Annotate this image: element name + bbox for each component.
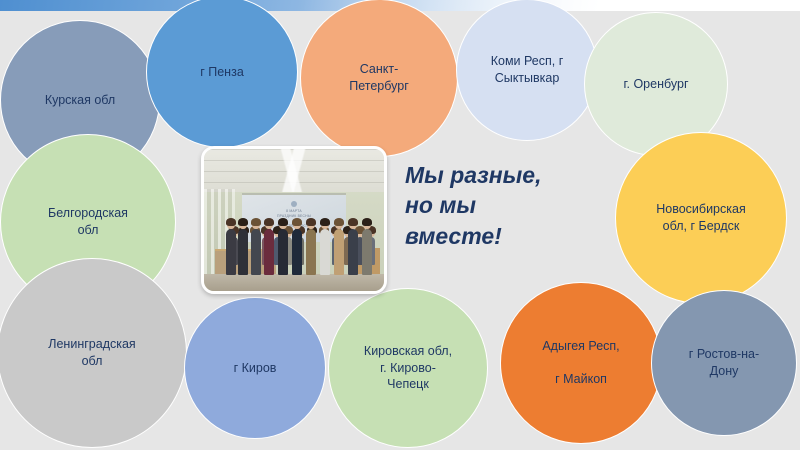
bubble-label: Курская обл: [11, 92, 149, 109]
bubble-label: Санкт- Петербург: [311, 61, 447, 95]
bubble-label: Кировская обл, г. Кирово- Чепецк: [339, 343, 477, 394]
photo-person-hair: [348, 218, 358, 226]
group-photo-image: 8 МАРТА ПРАЗДНИК ВЕСНЫ И ЖЕНСТВЕННОСТИ: [204, 149, 384, 291]
bubble-kirovskaya[interactable]: Кировская обл, г. Кирово- Чепецк: [328, 288, 488, 448]
photo-person: [334, 229, 344, 275]
bubble-komi[interactable]: Коми Респ, г Сыктывкар: [456, 0, 598, 141]
photo-person: [238, 229, 248, 275]
photo-person-hair: [278, 218, 288, 226]
bubble-label: г Киров: [195, 360, 315, 377]
bubble-spb[interactable]: Санкт- Петербург: [300, 0, 458, 157]
photo-person: [348, 229, 358, 275]
group-photo: 8 МАРТА ПРАЗДНИК ВЕСНЫ И ЖЕНСТВЕННОСТИ: [201, 146, 387, 294]
photo-person-hair: [320, 218, 330, 226]
slide-canvas: Курская облг ПензаСанкт- ПетербургКоми Р…: [0, 0, 800, 450]
bubble-label: Адыгея Респ, г Майкоп: [511, 338, 651, 389]
photo-person: [226, 229, 236, 275]
photo-person: [306, 229, 316, 275]
bubble-rostov[interactable]: г Ростов-на- Дону: [651, 290, 797, 436]
photo-person: [362, 229, 372, 275]
bubble-novosibirsk[interactable]: Новосибирская обл, г Бердск: [615, 132, 787, 304]
photo-person-hair: [292, 218, 302, 226]
bubble-label: г Пенза: [157, 64, 287, 81]
photo-floor: [204, 274, 384, 291]
bubble-label: Белгородская обл: [11, 205, 165, 239]
photo-person: [292, 229, 302, 275]
photo-person-hair: [264, 218, 274, 226]
bubble-adygeya[interactable]: Адыгея Респ, г Майкоп: [500, 282, 662, 444]
bubble-label: Коми Респ, г Сыктывкар: [467, 53, 587, 87]
photo-person-hair: [334, 218, 344, 226]
page-title: Мы разные, но мы вместе!: [405, 160, 590, 251]
bubble-label: г Ростов-на- Дону: [662, 346, 786, 380]
photo-person: [320, 229, 330, 275]
bubble-label: г. Оренбург: [595, 76, 717, 93]
photo-person: [251, 229, 261, 275]
bubble-leningradskaya[interactable]: Ленинградская обл: [0, 258, 187, 448]
photo-person-hair: [306, 218, 316, 226]
photo-person-hair: [251, 218, 261, 226]
photo-person-hair: [362, 218, 372, 226]
bubble-penza[interactable]: г Пенза: [146, 0, 298, 148]
bubble-label: Новосибирская обл, г Бердск: [626, 201, 776, 235]
photo-person: [278, 229, 288, 275]
photo-person: [264, 229, 274, 275]
photo-person-hair: [238, 218, 248, 226]
bubble-kirov[interactable]: г Киров: [184, 297, 326, 439]
bubble-label: Ленинградская обл: [8, 336, 176, 370]
photo-projector-logo: [291, 201, 297, 207]
photo-person-hair: [226, 218, 236, 226]
